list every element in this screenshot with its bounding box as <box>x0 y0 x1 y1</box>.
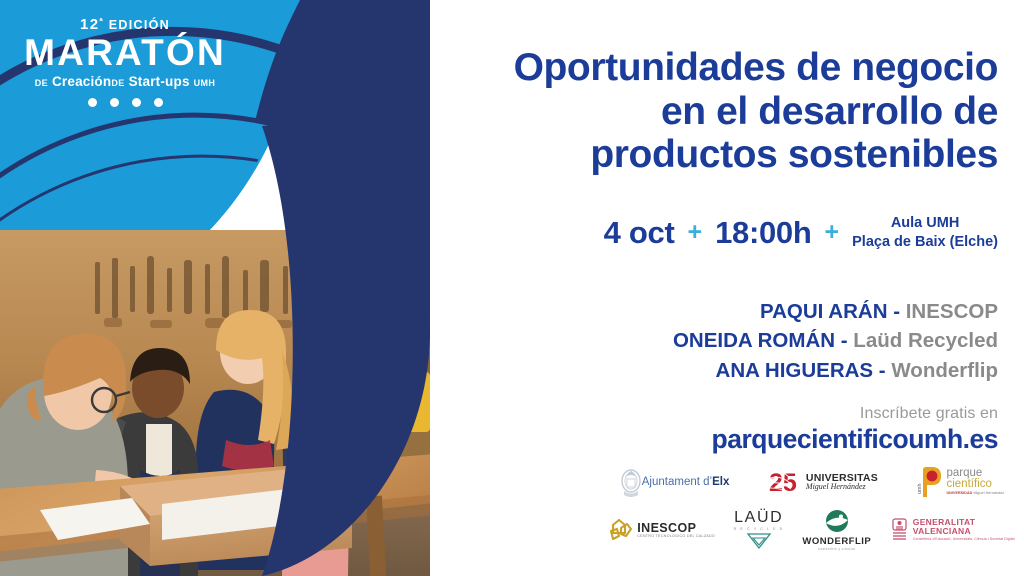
brand-dots <box>18 98 232 107</box>
sponsor-logos: Ajuntament d’Elx 25 UNIVERSITAS Miguel H… <box>600 462 1024 554</box>
elx-bold: Elx <box>712 476 729 488</box>
event-time: 18:00h <box>715 215 811 251</box>
logo-wonderflip: WONDERFLIP sostenible y circular <box>802 509 871 551</box>
generalitat-label: GENERALITAT VALENCIANA Conselleria d’Edu… <box>913 518 1015 542</box>
laud-label: LAÜD R E C Y C L E D <box>734 510 784 532</box>
speaker-org: INESCOP <box>906 300 998 323</box>
wonderflip-line-1: WONDERFLIP <box>802 537 871 547</box>
edition-number: 12 <box>80 16 99 33</box>
poster: 12ª EDICIÓN MARATÓN DE CreaciónDE Start-… <box>0 0 1024 576</box>
brand-title: MARATÓN <box>18 34 232 71</box>
speaker-dash: - <box>873 359 891 382</box>
laud-triangle-icon <box>746 532 772 550</box>
headline-line-1: Oportunidades de negocio <box>423 46 998 90</box>
elx-label: Ajuntament d’Elx <box>642 476 730 488</box>
speaker-dash: - <box>888 300 906 323</box>
speaker-name: ANA HIGUERAS <box>716 359 874 382</box>
inescop-label: INESCOP CENTRO TECNOLÓGICO DEL CALZADO <box>637 522 715 539</box>
brand-dot <box>154 98 163 107</box>
parque-line-3: UNIVERSIDAD Miguel Hernández <box>946 492 1004 496</box>
logo-parque-cientifico: umh parque científico UNIVERSIDAD Miguel… <box>917 466 1004 498</box>
event-venue: Aula UMH Plaça de Baix (Elche) <box>852 214 998 251</box>
headline-line-3: productos sostenibles <box>423 133 998 177</box>
wonderflip-label: WONDERFLIP sostenible y circular <box>802 537 871 551</box>
brand-sub-de2: DE <box>111 78 124 88</box>
edition-label: 12ª EDICIÓN <box>18 16 232 33</box>
parque-line-2: científico <box>946 479 1004 491</box>
brand-sub-umh: UMH <box>194 78 216 88</box>
laud-line-1: LAÜD <box>734 510 784 526</box>
edition-ordinal: ª <box>99 16 104 26</box>
speaker-name: ONEIDA ROMÁN <box>673 329 835 352</box>
brand-dot <box>88 98 97 107</box>
cta-label: Inscríbete gratis en <box>423 405 998 423</box>
plus-separator-icon: + <box>825 220 840 245</box>
inescop-line-1: INESCOP <box>637 522 715 535</box>
elx-name: Ajuntament d <box>642 476 710 488</box>
parque-line-3-rest: Miguel Hernández <box>972 491 1004 495</box>
event-date: 4 oct <box>604 215 675 251</box>
speaker-org: Wonderflip <box>891 359 998 382</box>
brand-sub-de1: DE <box>35 78 48 88</box>
elx-crest-icon <box>620 467 642 497</box>
sponsor-row-2: INESCOP CENTRO TECNOLÓGICO DEL CALZADO L… <box>600 506 1024 554</box>
headline-line-2: en el desarrollo de <box>423 90 998 134</box>
cta-url[interactable]: parquecientificoumh.es <box>423 424 998 455</box>
venue-line-2: Plaça de Baix (Elche) <box>852 233 998 252</box>
umh-label: UNIVERSITAS Miguel Hernández <box>806 473 878 492</box>
sponsor-row-1: Ajuntament d’Elx 25 UNIVERSITAS Miguel H… <box>600 462 1024 502</box>
speaker-row: PAQUI ARÁN - INESCOP <box>423 297 998 326</box>
generalitat-crest-icon <box>890 517 910 543</box>
speaker-name: PAQUI ARÁN <box>760 300 888 323</box>
page-title: Oportunidades de negocio en el desarroll… <box>423 46 998 177</box>
event-meta: 4 oct + 18:00h + Aula UMH Plaça de Baix … <box>423 214 998 251</box>
logo-inescop: INESCOP CENTRO TECNOLÓGICO DEL CALZADO <box>609 517 715 543</box>
wonderflip-line-2: sostenible y circular <box>802 548 871 551</box>
inescop-mark-icon <box>609 517 633 543</box>
wonderflip-mark-icon <box>822 509 852 535</box>
registration-cta: Inscríbete gratis en parquecientificoumh… <box>423 405 998 455</box>
venue-line-1: Aula UMH <box>852 214 998 233</box>
brand-logo: 12ª EDICIÓN MARATÓN DE CreaciónDE Start-… <box>18 16 232 107</box>
speaker-dash: - <box>835 329 853 352</box>
left-artwork: 12ª EDICIÓN MARATÓN DE CreaciónDE Start-… <box>0 0 430 576</box>
umh-line-2: Miguel Hernández <box>806 483 878 491</box>
brand-sub-startups: Start-ups <box>129 74 190 89</box>
generalitat-line-2: VALENCIANA <box>913 527 1015 536</box>
logo-umh: 25 UNIVERSITAS Miguel Hernández <box>769 467 878 497</box>
speaker-row: ANA HIGUERAS - Wonderflip <box>423 356 998 385</box>
speaker-org: Laüd Recycled <box>853 329 998 352</box>
brand-dot <box>110 98 119 107</box>
brand-dot <box>132 98 141 107</box>
edition-word: EDICIÓN <box>109 18 170 32</box>
logo-generalitat-valenciana: GENERALITAT VALENCIANA Conselleria d’Edu… <box>890 517 1015 543</box>
generalitat-line-3: Conselleria d’Educació, Universitats, Ci… <box>913 538 1015 542</box>
brand-subtitle: DE CreaciónDE Start-ups UMH <box>18 74 232 89</box>
logo-ajuntament-elx: Ajuntament d’Elx <box>620 467 730 497</box>
parque-p-mark-icon: umh <box>917 466 943 498</box>
logo-laud: LAÜD R E C Y C L E D <box>734 510 784 550</box>
parque-line-3-bold: UNIVERSIDAD <box>946 491 972 495</box>
inescop-line-2: CENTRO TECNOLÓGICO DEL CALZADO <box>637 535 715 539</box>
speaker-row: ONEIDA ROMÁN - Laüd Recycled <box>423 326 998 355</box>
parque-umh-text: umh <box>917 483 923 494</box>
brand-sub-creacion: Creación <box>52 74 111 89</box>
speakers-list: PAQUI ARÁN - INESCOP ONEIDA ROMÁN - Laüd… <box>423 297 998 385</box>
plus-separator-icon: + <box>687 220 702 245</box>
parque-label: parque científico UNIVERSIDAD Miguel Her… <box>946 468 1004 495</box>
umh-25-mark-icon: 25 <box>769 467 803 497</box>
